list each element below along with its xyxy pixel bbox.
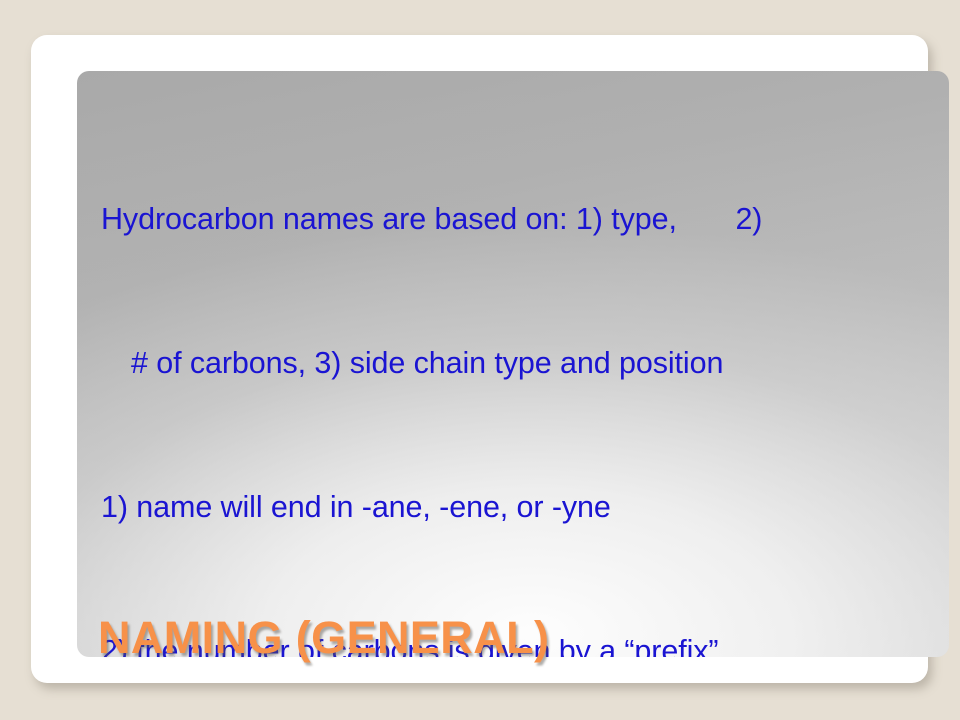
body-line: 1) name will end in -ane, -ene, or -yne xyxy=(101,483,949,531)
body-line: # of carbons, 3) side chain type and pos… xyxy=(101,339,949,387)
slide-content-panel: Hydrocarbon names are based on: 1) type,… xyxy=(77,71,949,657)
slide-body-text: Hydrocarbon names are based on: 1) type,… xyxy=(101,99,949,657)
slide-title: NAMING (GENERAL) xyxy=(98,613,549,663)
body-line: Hydrocarbon names are based on: 1) type,… xyxy=(101,195,949,243)
slide-stage: Hydrocarbon names are based on: 1) type,… xyxy=(0,0,960,720)
slide-frame: Hydrocarbon names are based on: 1) type,… xyxy=(31,35,928,683)
